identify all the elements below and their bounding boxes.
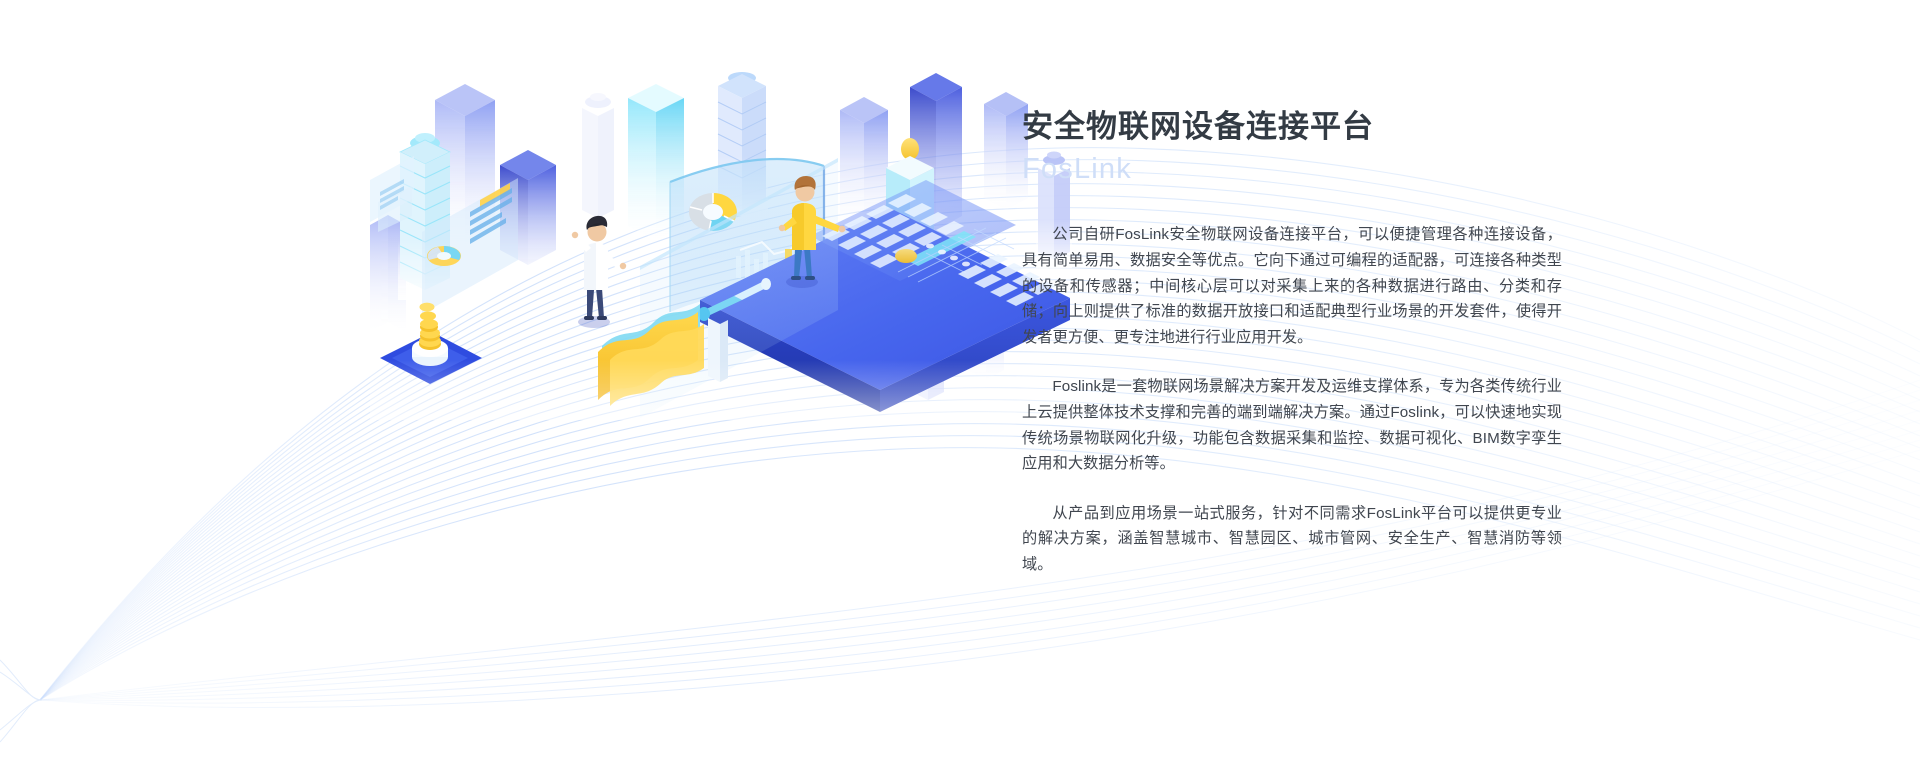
description-block: 公司自研FosLink安全物联网设备连接平台，可以便捷管理各种连接设备，具有简单… — [1022, 222, 1562, 577]
paragraph-scenarios: 从产品到应用场景一站式服务，针对不同需求FosLink平台可以提供更专业的解决方… — [1022, 501, 1562, 578]
content-column: 安全物联网设备连接平台 FosLink 公司自研FosLink安全物联网设备连接… — [1022, 108, 1562, 578]
hero-illustration — [370, 60, 1090, 420]
gold-token — [895, 249, 917, 263]
donut-chart-small — [427, 246, 461, 266]
page-title: 安全物联网设备连接平台 — [1022, 108, 1562, 147]
paragraph-overview: 公司自研FosLink安全物联网设备连接平台，可以便捷管理各种连接设备，具有简单… — [1022, 222, 1562, 350]
page-subtitle: FosLink — [1022, 151, 1562, 189]
paragraph-solution: Foslink是一套物联网场景解决方案开发及运维支撑体系，专为各类传统行业上云提… — [1022, 374, 1562, 476]
page-root: 安全物联网设备连接平台 FosLink 公司自研FosLink安全物联网设备连接… — [0, 0, 1920, 760]
person-white-shirt — [572, 216, 626, 328]
